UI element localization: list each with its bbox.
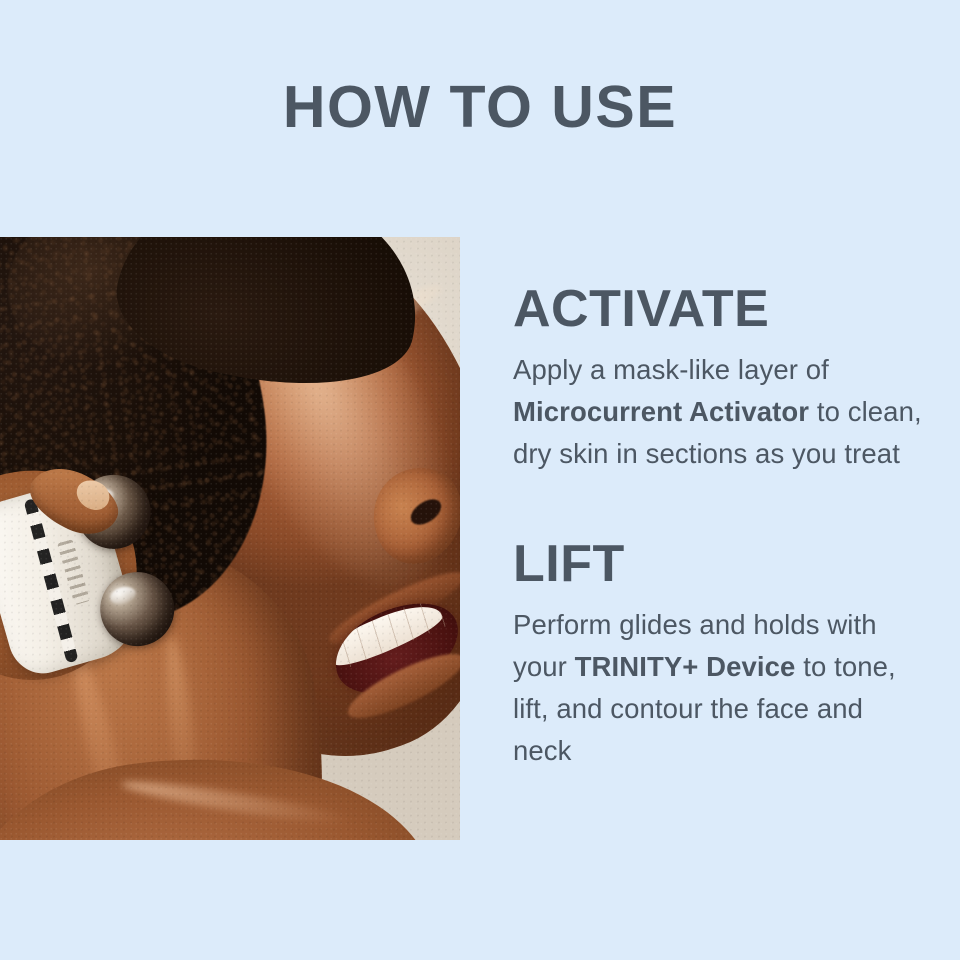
step-activate-body: Apply a mask-like layer of Microcurrent … <box>513 349 923 475</box>
how-to-use-page: HOW TO USE <box>0 0 960 960</box>
instructions-column: ACTIVATE Apply a mask-like layer of Micr… <box>513 282 923 772</box>
step-activate-heading: ACTIVATE <box>513 282 923 337</box>
page-title: HOW TO USE <box>0 78 960 137</box>
activate-text-lead: Apply a mask-like layer of <box>513 354 829 385</box>
lift-bold-term: TRINITY+ Device <box>575 651 796 682</box>
step-lift-body: Perform glides and holds with your TRINI… <box>513 604 923 772</box>
step-activate: ACTIVATE Apply a mask-like layer of Micr… <box>513 282 923 475</box>
product-usage-photo <box>0 237 460 840</box>
step-lift: LIFT Perform glides and holds with your … <box>513 537 923 772</box>
activate-bold-term: Microcurrent Activator <box>513 396 809 427</box>
step-lift-heading: LIFT <box>513 537 923 592</box>
sphere-gloss <box>108 584 137 607</box>
